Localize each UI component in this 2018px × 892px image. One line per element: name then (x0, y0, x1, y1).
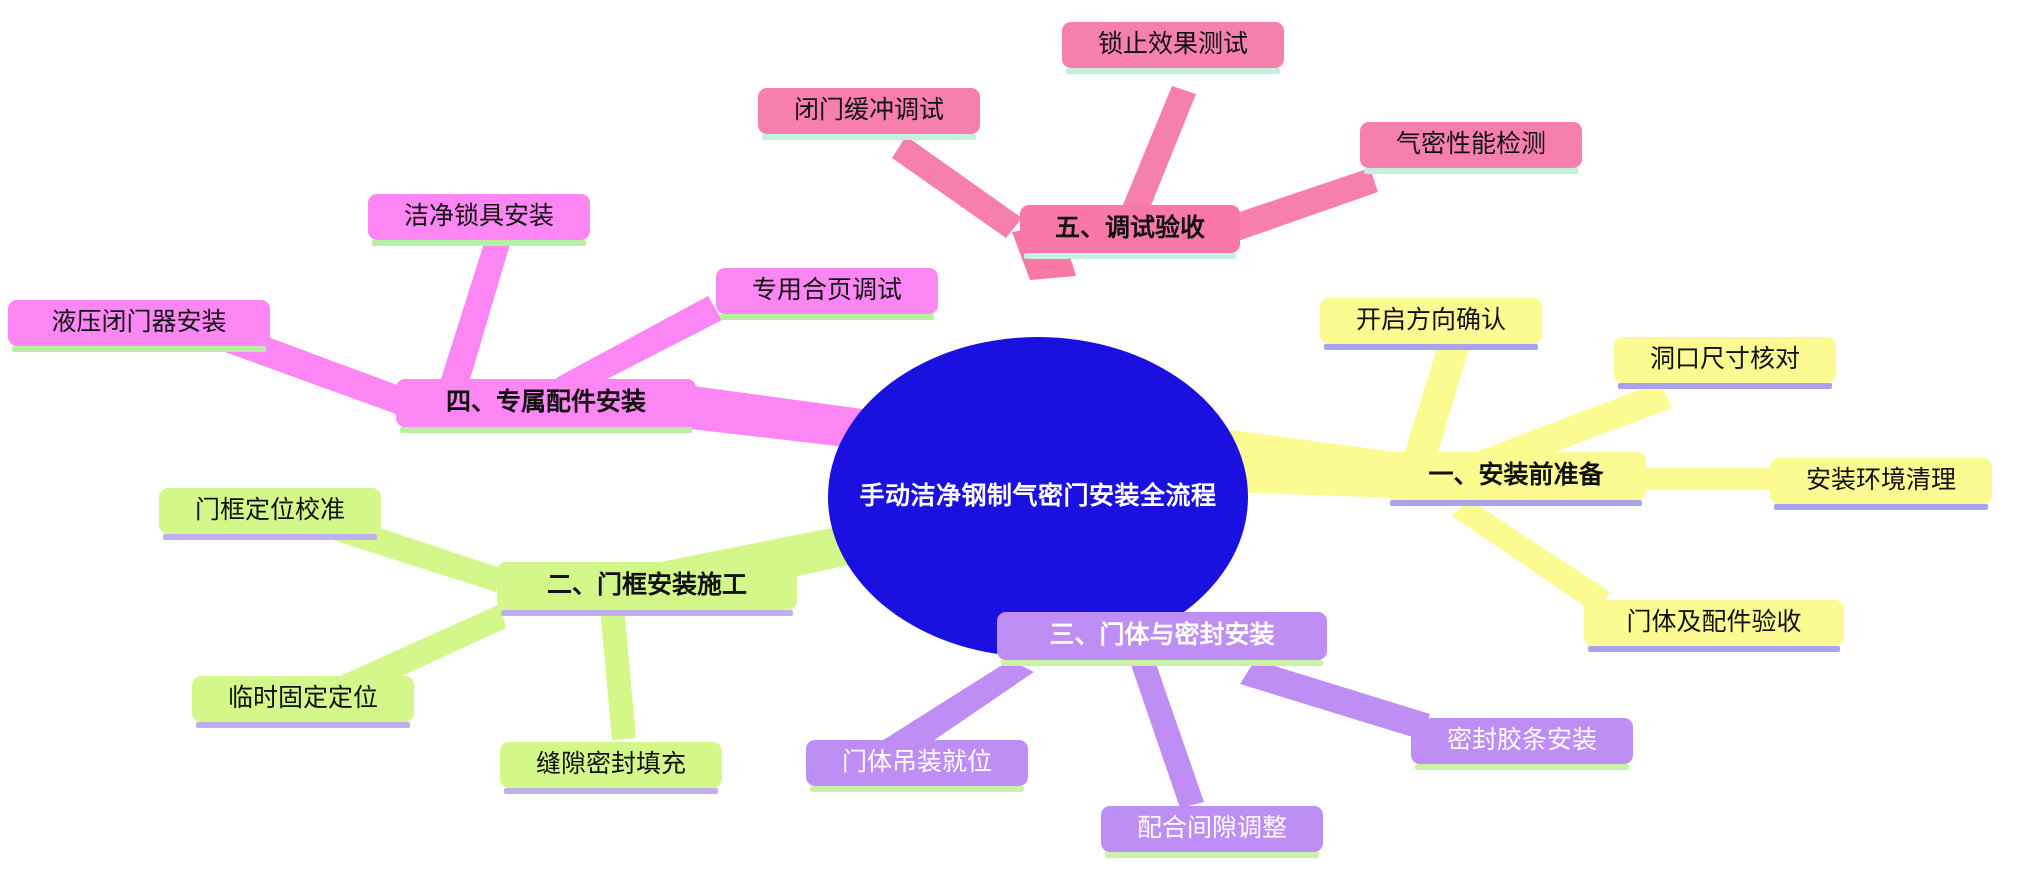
leaf-node-3-3-underbar (1415, 764, 1629, 770)
leaf-node-3-3-label: 密封胶条安装 (1411, 726, 1633, 756)
leaf-node-2-3-label: 缝隙密封填充 (500, 750, 722, 780)
leaf-node-1-3[interactable]: 安装环境清理 (1770, 458, 1992, 504)
leaf-node-5-2[interactable]: 锁止效果测试 (1062, 22, 1284, 68)
leaf-node-5-1-label: 闭门缓冲调试 (758, 96, 980, 126)
leaf-node-4-2-underbar (372, 240, 586, 246)
leaf-node-3-1-label: 门体吊装就位 (806, 748, 1028, 778)
mindmap-canvas: 手动洁净钢制气密门安装全流程 一、安装前准备 开启方向确认 洞口尺寸核对 安装环… (0, 0, 2018, 892)
leaf-node-1-2-label: 洞口尺寸核对 (1614, 345, 1836, 375)
leaf-node-5-1-underbar (762, 134, 976, 140)
edge-b1-c4 (1452, 500, 1610, 614)
leaf-node-3-2-label: 配合间隙调整 (1101, 814, 1323, 844)
leaf-node-4-2[interactable]: 洁净锁具安装 (368, 194, 590, 240)
edge-b3-c2 (1130, 658, 1204, 808)
leaf-node-2-3[interactable]: 缝隙密封填充 (500, 742, 722, 788)
leaf-node-1-1[interactable]: 开启方向确认 (1320, 298, 1542, 344)
branch-node-2[interactable]: 二、门框安装施工 (497, 562, 797, 610)
branch-node-1[interactable]: 一、安装前准备 (1386, 452, 1646, 500)
leaf-node-1-1-label: 开启方向确认 (1320, 306, 1542, 336)
edge-root-b1 (1230, 430, 1396, 498)
edge-b2-c3 (600, 606, 636, 740)
leaf-node-5-3-label: 气密性能检测 (1360, 130, 1582, 160)
leaf-node-4-3[interactable]: 专用合页调试 (716, 268, 938, 314)
branch-node-3-label: 三、门体与密封安装 (997, 621, 1327, 651)
edge-b5-c2 (1120, 86, 1196, 218)
root-node[interactable]: 手动洁净钢制气密门安装全流程 (828, 337, 1248, 657)
leaf-node-4-1-label: 液压闭门器安装 (8, 308, 270, 338)
leaf-node-4-3-underbar (720, 314, 934, 320)
edge-b5-c1 (892, 136, 1022, 238)
root-node-label: 手动洁净钢制气密门安装全流程 (829, 480, 1246, 514)
edge-b3-c3 (1240, 660, 1430, 740)
leaf-node-1-4-label: 门体及配件验收 (1584, 608, 1844, 638)
leaf-node-3-1[interactable]: 门体吊装就位 (806, 740, 1028, 786)
branch-node-5-label: 五、调试验收 (1020, 214, 1240, 244)
branch-node-2-label: 二、门框安装施工 (497, 571, 797, 601)
leaf-node-3-3[interactable]: 密封胶条安装 (1411, 718, 1633, 764)
leaf-node-4-3-label: 专用合页调试 (716, 276, 938, 306)
leaf-node-2-1[interactable]: 门框定位校准 (159, 488, 381, 534)
leaf-node-4-2-label: 洁净锁具安装 (368, 202, 590, 232)
leaf-node-4-1[interactable]: 液压闭门器安装 (8, 300, 270, 346)
leaf-node-3-2-underbar (1105, 852, 1319, 858)
leaf-node-1-3-label: 安装环境清理 (1770, 466, 1992, 496)
leaf-node-1-1-underbar (1324, 344, 1538, 350)
leaf-node-4-1-underbar (12, 346, 266, 352)
branch-node-2-underbar (501, 610, 793, 616)
leaf-node-2-2-underbar (196, 722, 410, 728)
branch-node-3-underbar (1001, 660, 1323, 666)
branch-node-1-underbar (1390, 500, 1642, 506)
leaf-node-2-2-label: 临时固定定位 (192, 684, 414, 714)
leaf-node-1-3-underbar (1774, 504, 1988, 510)
leaf-node-1-2[interactable]: 洞口尺寸核对 (1614, 337, 1836, 383)
leaf-node-1-2-underbar (1618, 383, 1832, 389)
leaf-node-5-1[interactable]: 闭门缓冲调试 (758, 88, 980, 134)
edge-b1-c1 (1404, 338, 1470, 460)
leaf-node-5-3-underbar (1364, 168, 1578, 174)
branch-node-1-label: 一、安装前准备 (1386, 461, 1646, 491)
leaf-node-2-1-label: 门框定位校准 (159, 496, 381, 526)
branch-node-4-label: 四、专属配件安装 (396, 388, 696, 418)
leaf-node-5-2-label: 锁止效果测试 (1062, 30, 1284, 60)
leaf-node-5-2-underbar (1066, 68, 1280, 74)
leaf-node-2-3-underbar (504, 788, 718, 794)
branch-node-3[interactable]: 三、门体与密封安装 (997, 612, 1327, 660)
leaf-node-1-4-underbar (1588, 646, 1840, 652)
branch-node-5-underbar (1024, 253, 1236, 259)
leaf-node-3-1-underbar (810, 786, 1024, 792)
branch-node-4-underbar (400, 427, 692, 433)
leaf-node-2-2[interactable]: 临时固定定位 (192, 676, 414, 722)
edge-b1-c3 (1640, 468, 1780, 490)
leaf-node-2-1-underbar (163, 534, 377, 540)
leaf-node-3-2[interactable]: 配合间隙调整 (1101, 806, 1323, 852)
branch-node-5[interactable]: 五、调试验收 (1020, 205, 1240, 253)
leaf-node-1-4[interactable]: 门体及配件验收 (1584, 600, 1844, 646)
branch-node-4[interactable]: 四、专属配件安装 (396, 379, 696, 427)
leaf-node-5-3[interactable]: 气密性能检测 (1360, 122, 1582, 168)
